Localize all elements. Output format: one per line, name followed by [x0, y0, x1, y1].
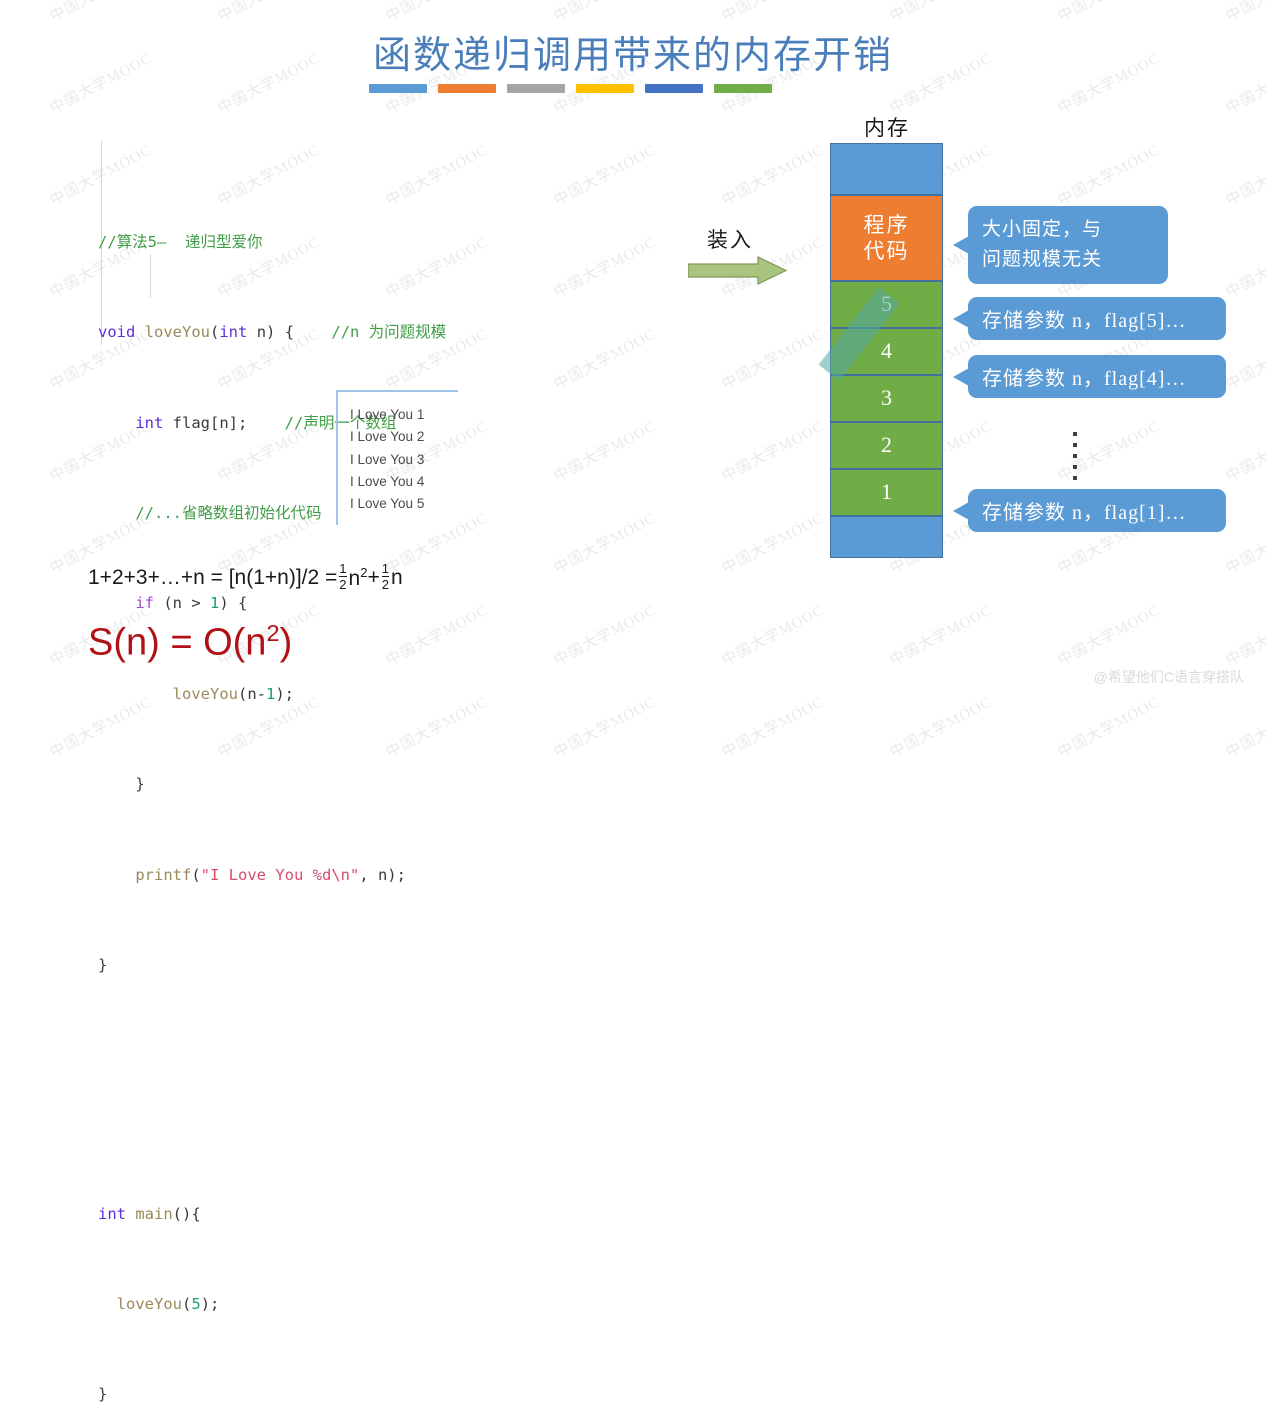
fraction-one-half-a: 1 2	[339, 562, 346, 591]
watermark-tile: 中国大学MOOC	[550, 691, 660, 763]
watermark-tile: 中国大学MOOC	[718, 0, 828, 26]
code-line-close-func: }	[98, 954, 446, 977]
plus-sign: +	[367, 566, 379, 590]
memory-cell-frame-3: 3	[830, 375, 943, 422]
watermark-tile: 中国大学MOOC	[1222, 231, 1266, 303]
memory-cell-top-free	[830, 143, 943, 195]
callout-tail-icon	[953, 236, 969, 254]
memory-cell-value: 3	[881, 386, 892, 410]
code-line-comment-algo: //算法5— 递归型爱你	[98, 231, 446, 254]
code-line-close-if: }	[98, 773, 446, 796]
author-signature-watermark: @希望他们C语言穿搭队	[1094, 667, 1244, 687]
callout-line-2: 问题规模无关	[982, 245, 1102, 275]
watermark-tile: 中国大学MOOC	[718, 323, 828, 395]
watermark-tile: 中国大学MOOC	[550, 231, 660, 303]
console-line-5: I Love You 5	[350, 493, 458, 515]
page-title: 函数递归调用带来的内存开销	[0, 24, 1266, 79]
watermark-tile: 中国大学MOOC	[550, 139, 660, 211]
watermark-tile: 中国大学MOOC	[1054, 415, 1164, 487]
watermark-tile: 中国大学MOOC	[718, 507, 828, 579]
sum-formula: 1+2+3+…+n = [n(1+n)]/2 = 1 2 n2 + 1 2 n	[88, 563, 403, 592]
watermark-tile: 中国大学MOOC	[1222, 323, 1266, 395]
memory-cell-value: 5	[881, 292, 892, 316]
memory-cell-program: 程序代码	[830, 195, 943, 281]
callout-fixed-size: 大小固定，与问题规模无关	[968, 206, 1168, 284]
callout-tail-icon	[953, 368, 969, 386]
memory-cell-frame-2: 2	[830, 422, 943, 469]
watermark-tile: 中国大学MOOC	[1222, 139, 1266, 211]
console-line-3: I Love You 3	[350, 449, 458, 471]
indent-guide-inner	[150, 254, 151, 298]
watermark-tile: 中国大学MOOC	[550, 323, 660, 395]
memory-cell-bottom-free	[830, 516, 943, 558]
code-line-main-call: loveYou(5);	[98, 1293, 446, 1316]
code-line-blank-1	[98, 1044, 446, 1067]
fraction-one-half-b: 1 2	[382, 562, 389, 591]
watermark-tile: 中国大学MOOC	[1054, 139, 1164, 211]
code-line-printf: printf("I Love You %d\n", n);	[98, 864, 446, 887]
callout-tail-icon	[953, 310, 969, 328]
watermark-tile: 中国大学MOOC	[46, 0, 156, 26]
console-output-panel: I Love You 1I Love You 2I Love You 3I Lo…	[336, 390, 458, 525]
memory-cell-frame-1: 1	[830, 469, 943, 516]
watermark-tile: 中国大学MOOC	[1222, 599, 1266, 671]
watermark-tile: 中国大学MOOC	[1054, 691, 1164, 763]
callout-text: 存储参数 n，flag[4]…	[982, 362, 1186, 391]
watermark-tile: 中国大学MOOC	[886, 691, 996, 763]
code-line-if: if (n > 1) {	[98, 592, 446, 615]
watermark-tile: 中国大学MOOC	[550, 507, 660, 579]
watermark-tile: 中国大学MOOC	[1222, 507, 1266, 579]
title-rule-bar-5	[645, 84, 703, 93]
callout-text: 存储参数 n，flag[1]…	[982, 496, 1186, 525]
watermark-tile: 中国大学MOOC	[550, 415, 660, 487]
load-arrow-icon	[688, 256, 788, 291]
code-line-blank-2	[98, 1112, 446, 1135]
watermark-tile: 中国大学MOOC	[1222, 691, 1266, 763]
callout-frame-4-note: 存储参数 n，flag[4]…	[968, 355, 1226, 398]
callout-text: 存储参数 n，flag[5]…	[982, 304, 1186, 333]
memory-cell-value: 2	[881, 433, 892, 457]
title-rule-bar-3	[507, 84, 565, 93]
title-rule-bar-2	[438, 84, 496, 93]
program-code-label: 程序代码	[864, 212, 910, 264]
code-line-close-main: }	[98, 1383, 446, 1402]
callout-tail-icon	[953, 502, 969, 520]
watermark-tile: 中国大学MOOC	[886, 0, 996, 26]
slide-canvas: 中国大学MOOC中国大学MOOC中国大学MOOC中国大学MOOC中国大学MOOC…	[0, 0, 1266, 701]
console-line-2: I Love You 2	[350, 426, 458, 448]
code-line-main: int main(){	[98, 1203, 446, 1226]
load-label: 装入	[707, 224, 753, 254]
watermark-tile: 中国大学MOOC	[718, 415, 828, 487]
memory-cell-value: 4	[881, 339, 892, 363]
watermark-tile: 中国大学MOOC	[550, 599, 660, 671]
watermark-tile: 中国大学MOOC	[382, 0, 492, 26]
code-block: //算法5— 递归型爱你 void loveYou(int n) { //n 为…	[98, 118, 446, 1402]
memory-stack: 程序代码54321	[830, 143, 943, 558]
watermark-tile: 中国大学MOOC	[1222, 415, 1266, 487]
watermark-tile: 中国大学MOOC	[550, 0, 660, 26]
callout-frame-1-note: 存储参数 n，flag[1]…	[968, 489, 1226, 532]
console-line-4: I Love You 4	[350, 471, 458, 493]
watermark-tile: 中国大学MOOC	[1054, 0, 1164, 26]
code-line-recursive-call: loveYou(n-1);	[98, 683, 446, 706]
sum-formula-prefix: 1+2+3+…+n = [n(1+n)]/2 =	[88, 566, 337, 590]
memory-cell-frame-4: 4	[830, 328, 943, 375]
watermark-tile: 中国大学MOOC	[886, 599, 996, 671]
watermark-tile: 中国大学MOOC	[718, 691, 828, 763]
watermark-tile: 中国大学MOOC	[718, 599, 828, 671]
watermark-tile: 中国大学MOOC	[214, 0, 324, 26]
callout-line-1: 大小固定，与	[982, 215, 1102, 245]
memory-cell-frame-5: 5	[830, 281, 943, 328]
n-term: n	[391, 566, 403, 590]
title-rule-bar-4	[576, 84, 634, 93]
console-line-1: I Love You 1	[350, 404, 458, 426]
memory-label: 内存	[830, 112, 944, 142]
title-rule-bar-6	[714, 84, 772, 93]
watermark-tile: 中国大学MOOC	[718, 139, 828, 211]
watermark-tile: 中国大学MOOC	[1222, 0, 1266, 26]
code-line-func-signature: void loveYou(int n) { //n 为问题规模	[98, 321, 446, 344]
memory-cell-value: 1	[881, 480, 892, 504]
callout-frame-5-note: 存储参数 n，flag[5]…	[968, 297, 1226, 340]
space-complexity-result: S(n) = O(n2)	[88, 620, 292, 665]
watermark-tile: 中国大学MOOC	[1054, 599, 1164, 671]
vertical-ellipsis-icon	[1073, 432, 1077, 480]
n-squared-term: n2	[349, 565, 368, 591]
title-rule-bars	[369, 84, 772, 93]
title-rule-bar-1	[369, 84, 427, 93]
